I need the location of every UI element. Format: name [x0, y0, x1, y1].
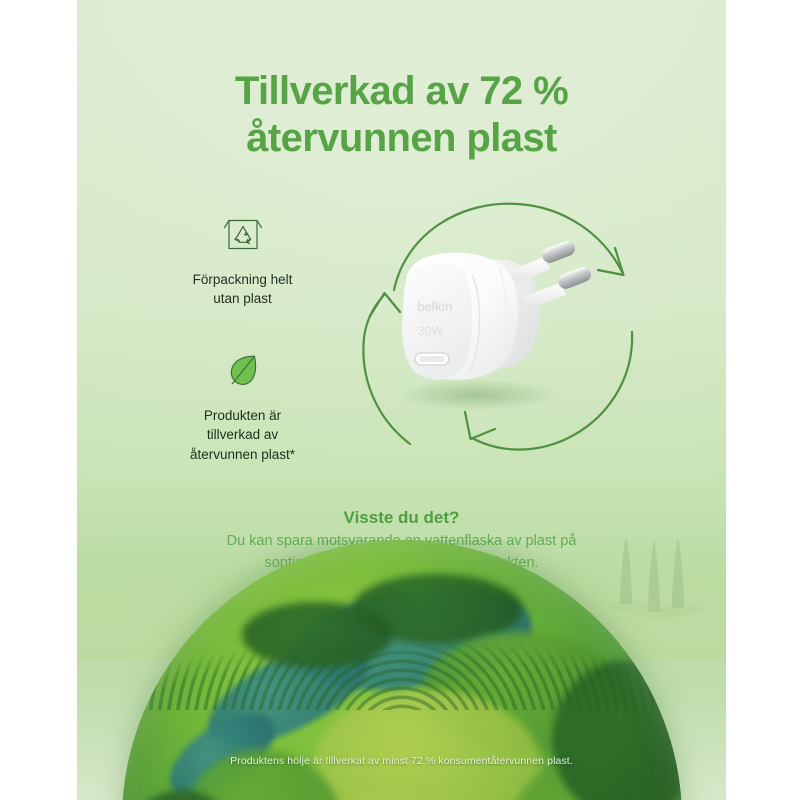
page-title: Tillverkad av 72 % återvunnen plast	[77, 68, 726, 162]
feature-recycled-label-line-2: tillverkad av	[140, 425, 345, 444]
package-recycle-icon	[140, 208, 345, 262]
feature-packaging-label: Förpackning helt utan plast	[140, 270, 345, 308]
feature-packaging-label-line-2: utan plast	[140, 289, 345, 308]
feature-list: Förpackning helt utan plast Produkten är…	[140, 208, 345, 490]
feature-recycled-product: Produkten är tillverkad av återvunnen pl…	[140, 344, 345, 463]
leaf-icon	[140, 344, 345, 398]
feature-packaging: Förpackning helt utan plast	[140, 208, 345, 308]
footnote: Produktens hölje är tillverkat av minst …	[77, 755, 726, 767]
product-wattage-text: 30W	[418, 324, 444, 338]
feature-recycled-label-line-1: Produkten är	[140, 406, 345, 425]
usb-c-wall-charger-icon: belkin 30W	[382, 235, 597, 415]
feature-recycled-product-label: Produkten är tillverkad av återvunnen pl…	[140, 406, 345, 463]
did-you-know-title: Visste du det?	[117, 508, 686, 528]
promo-panel: Tillverkad av 72 % återvunnen plast	[77, 0, 726, 800]
feature-packaging-label-line-1: Förpackning helt	[140, 270, 345, 289]
product-brand-text: belkin	[417, 299, 453, 314]
headline-line-1: Tillverkad av 72 %	[77, 68, 726, 115]
promo-page: Tillverkad av 72 % återvunnen plast	[0, 0, 800, 800]
usb-c-port-icon	[415, 353, 449, 365]
headline-line-2: återvunnen plast	[77, 115, 726, 162]
feature-recycled-label-line-3: återvunnen plast*	[140, 445, 345, 464]
